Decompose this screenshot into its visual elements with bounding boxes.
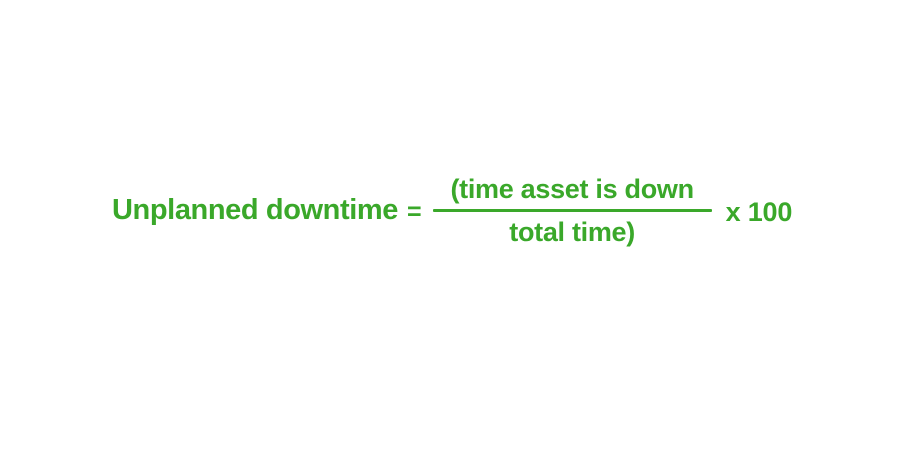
fraction-numerator: (time asset is down bbox=[442, 176, 701, 209]
formula-canvas: Unplanned downtime = (time asset is down… bbox=[0, 0, 900, 450]
fraction-denominator: total time) bbox=[501, 212, 643, 247]
unplanned-downtime-formula: Unplanned downtime = (time asset is down… bbox=[112, 176, 792, 246]
formula-left-side-label: Unplanned downtime bbox=[112, 196, 398, 226]
equals-sign: = bbox=[407, 200, 422, 225]
multiplier-label: x 100 bbox=[726, 199, 793, 226]
fraction: (time asset is down total time) bbox=[433, 176, 712, 246]
